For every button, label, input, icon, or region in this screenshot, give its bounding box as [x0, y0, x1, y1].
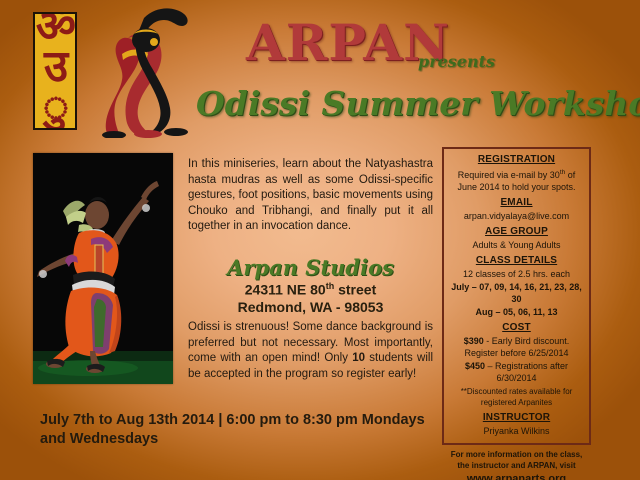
- cost-early-bird: $390 - Early Bird discount. Register bef…: [449, 335, 584, 359]
- class-count: 12 classes of 2.5 hrs. each: [449, 268, 584, 280]
- registration-body: Required via e-mail by 30th of June 2014…: [449, 167, 584, 193]
- om-glyph-icon: ॐ उ ु: [35, 12, 75, 127]
- presents-label: presents: [418, 52, 495, 71]
- age-group-value: Adults & Young Adults: [449, 239, 584, 251]
- discount-note: **Discounted rates available for registe…: [449, 387, 584, 408]
- studio-street-suffix: street: [334, 282, 376, 298]
- studio-city-line: Redmond, WA - 98053: [188, 299, 433, 316]
- cost-late-text: – Registrations after 6/30/2014: [485, 361, 568, 383]
- info-panel: REGISTRATION Required via e-mail by 30th…: [442, 147, 591, 445]
- cost-late: $450 – Registrations after 6/30/2014: [449, 360, 584, 384]
- registration-note-paragraph: Odissi is strenuous! Some dance backgrou…: [188, 320, 433, 382]
- email-heading: EMAIL: [449, 197, 584, 209]
- email-value[interactable]: arpan.vidyalaya@live.com: [449, 210, 584, 222]
- august-class-dates: Aug – 05, 06, 11, 13: [449, 306, 584, 318]
- poster-canvas: ॐ उ ु ARPAN presents Odissi Summer Works…: [0, 0, 640, 480]
- more-info-note: For more information on the class, the i…: [449, 449, 584, 471]
- registration-heading: REGISTRATION: [449, 154, 584, 166]
- class-details-heading: CLASS DETAILS: [449, 255, 584, 267]
- studio-street-line: 24311 NE 80th street: [188, 278, 433, 299]
- studio-address: 24311 NE 80th street Redmond, WA - 98053: [188, 278, 433, 316]
- studio-street-number: 24311 NE 80: [245, 282, 326, 298]
- workshop-subtitle: Odissi Summer Workshop: [196, 86, 640, 122]
- cost-late-amount: $450: [465, 361, 485, 371]
- odissi-dancer-photo: [33, 153, 173, 384]
- july-class-dates: July – 07, 09, 14, 16, 21, 23, 28, 30: [449, 281, 584, 305]
- intro-paragraph: In this miniseries, learn about the Naty…: [188, 157, 433, 235]
- om-glyph-line-3: ु: [35, 87, 75, 127]
- instructor-name: Priyanka Wilkins: [449, 425, 584, 437]
- dancer-silhouette-icon: [84, 4, 204, 138]
- cost-heading: COST: [449, 322, 584, 334]
- studio-street-ordinal: th: [326, 281, 335, 291]
- studio-name: Arpan Studios: [188, 255, 433, 280]
- arpan-logo-block: ॐ उ ु: [33, 12, 77, 130]
- age-group-heading: AGE GROUP: [449, 226, 584, 238]
- website-url[interactable]: www.arpanarts.org: [449, 473, 584, 480]
- cost-early-amount: $390: [464, 336, 484, 346]
- registration-body-part-1: Required via e-mail by 30: [458, 170, 560, 180]
- instructor-heading: INSTRUCTOR: [449, 412, 584, 424]
- note-student-count: 10: [352, 352, 365, 364]
- schedule-dates-line: July 7th to Aug 13th 2014 | 6:00 pm to 8…: [40, 411, 438, 449]
